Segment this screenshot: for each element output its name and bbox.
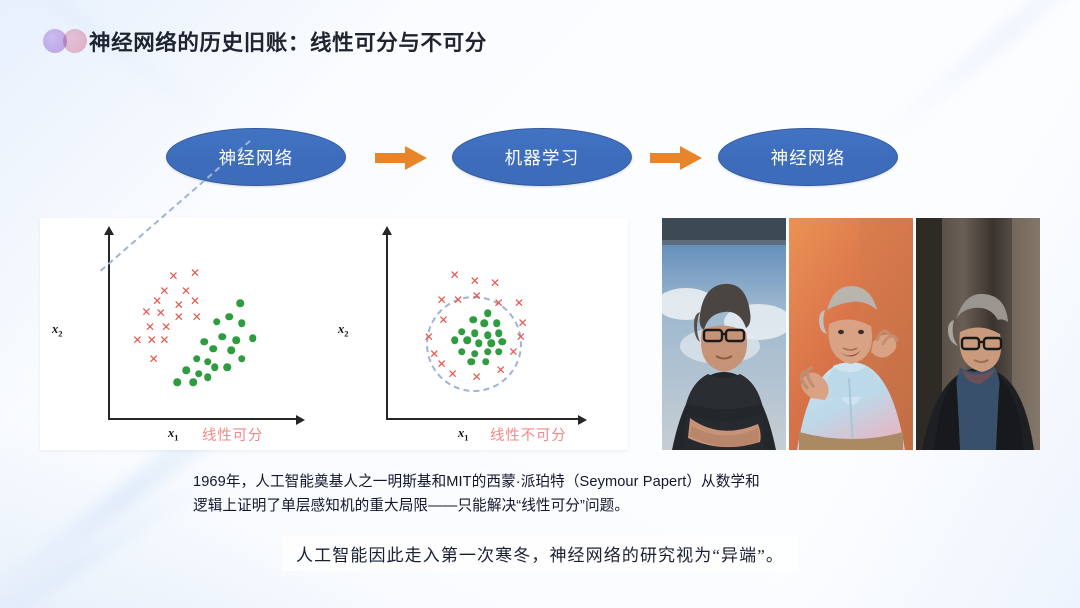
x-axis-label: x1 — [168, 426, 179, 443]
scatter-point-x: ✕ — [472, 371, 482, 383]
x-axis — [108, 418, 298, 420]
researcher-portrait-1 — [662, 218, 786, 450]
scatter-point-o — [236, 299, 244, 307]
scatter-point-x: ✕ — [149, 353, 159, 365]
slide-canvas: 神经网络的历史旧账：线性可分与不可分 神经网络 机器学习 神经网络 — [0, 0, 1080, 608]
caption-line-2: 逻辑上证明了单层感知机的重大局限——只能解决“线性可分”问题。 — [193, 495, 913, 519]
scatter-point-o — [204, 373, 212, 381]
scatter-point-o — [238, 355, 246, 363]
flow-diagram: 神经网络 机器学习 神经网络 — [0, 118, 1080, 198]
researcher-portrait-2 — [789, 218, 913, 450]
scatter-point-o — [484, 331, 492, 339]
x-axis-label: x1 — [458, 426, 469, 443]
scatter-point-o — [458, 348, 466, 356]
scatter-point-x: ✕ — [161, 321, 171, 333]
scatter-point-o — [193, 355, 201, 363]
scatter-point-o — [471, 330, 479, 338]
scatter-point-x: ✕ — [438, 314, 448, 326]
scatter-point-x: ✕ — [437, 294, 447, 306]
page-title: 神经网络的历史旧账：线性可分与不可分 — [89, 26, 487, 57]
flow-node-neural-network-2[interactable]: 神经网络 — [718, 128, 898, 186]
scatter-point-x: ✕ — [159, 334, 169, 346]
scatter-point-x: ✕ — [168, 270, 178, 282]
y-axis-arrowhead-icon — [382, 226, 392, 235]
scatter-point-x: ✕ — [453, 294, 463, 306]
scatter-point-o — [218, 333, 226, 341]
scatter-point-o — [467, 358, 475, 366]
footer-statement-text: 人工智能因此走入第一次寒冬，神经网络的研究视为“异端”。 — [282, 536, 798, 571]
chart-caption-right: 线性不可分 — [490, 424, 567, 445]
scatter-point-o — [469, 316, 477, 324]
scatter-point-o — [225, 313, 233, 321]
scatter-point-o — [213, 318, 221, 326]
caption-block: 1969年，人工智能奠基人之一明斯基和MIT的西蒙·派珀特（Seymour Pa… — [193, 471, 913, 518]
flow-node-label: 神经网络 — [771, 145, 846, 170]
scatter-point-o — [204, 358, 212, 366]
scatter-point-o — [238, 320, 246, 328]
caption-line-1: 1969年，人工智能奠基人之一明斯基和MIT的西蒙·派珀特（Seymour Pa… — [193, 471, 913, 495]
scatter-point-o — [249, 335, 257, 343]
scatter-point-o — [493, 320, 501, 328]
scatter-point-x: ✕ — [174, 311, 184, 323]
scatter-point-x: ✕ — [192, 311, 202, 323]
slide-header: 神经网络的历史旧账：线性可分与不可分 — [0, 0, 1080, 86]
scatter-point-x: ✕ — [470, 275, 480, 287]
footer-statement: 人工智能因此走入第一次寒冬，神经网络的研究视为“异端”。 — [0, 536, 1080, 571]
chart-not-linearly-separable: x2 x1 线性不可分 ✕✕✕✕✕✕✕✕✕✕✕✕✕✕✕✕✕✕ — [330, 218, 628, 450]
scatter-point-x: ✕ — [494, 297, 504, 309]
scatter-point-o — [471, 350, 479, 358]
researcher-portrait-3 — [916, 218, 1040, 450]
scatter-point-o — [499, 338, 507, 346]
scatter-point-o — [495, 348, 503, 356]
y-axis-arrowhead-icon — [104, 226, 114, 235]
y-axis-label: x2 — [52, 322, 63, 339]
scatter-point-x: ✕ — [132, 334, 142, 346]
y-axis — [386, 234, 388, 420]
scatter-point-o — [227, 346, 235, 354]
scatter-point-x: ✕ — [472, 290, 482, 302]
x-axis-arrowhead-icon — [578, 415, 587, 425]
x-axis — [386, 418, 580, 420]
scatter-point-x: ✕ — [450, 269, 460, 281]
scatter-point-x: ✕ — [190, 267, 200, 279]
scatter-point-o — [233, 336, 241, 344]
researcher-photo-strip — [662, 218, 1040, 450]
flow-node-neural-network-1[interactable]: 神经网络 — [166, 128, 346, 186]
y-axis-label: x2 — [338, 322, 349, 339]
scatter-point-o — [464, 336, 472, 344]
scatter-point-x: ✕ — [448, 368, 458, 380]
scatter-point-x: ✕ — [145, 321, 155, 333]
scatter-point-o — [182, 367, 190, 375]
scatter-point-x: ✕ — [156, 307, 166, 319]
scatter-point-x: ✕ — [190, 295, 200, 307]
x-axis-arrowhead-icon — [296, 415, 305, 425]
scatter-point-o — [482, 358, 490, 366]
scatter-point-o — [484, 309, 492, 317]
right-arrow-icon — [375, 146, 427, 170]
scatter-point-o — [173, 378, 181, 386]
scatter-point-x: ✕ — [490, 277, 500, 289]
scatter-point-o — [495, 330, 503, 338]
scatter-point-x: ✕ — [141, 306, 151, 318]
scatter-point-x: ✕ — [496, 364, 506, 376]
logo-circle-right — [63, 29, 87, 53]
scatter-point-x: ✕ — [514, 297, 524, 309]
scatter-point-x: ✕ — [518, 317, 528, 329]
scatter-point-o — [488, 340, 496, 348]
scatter-point-o — [484, 348, 492, 356]
scatter-point-o — [189, 378, 197, 386]
scatter-point-o — [475, 340, 483, 348]
scatter-point-x: ✕ — [147, 334, 157, 346]
flow-node-label: 机器学习 — [505, 145, 580, 170]
scatter-point-o — [224, 363, 232, 371]
scatter-point-o — [451, 336, 459, 344]
two-overlapping-circles-logo-icon — [43, 29, 89, 53]
charts-card: x2 x1 线性可分 ✕✕✕✕✕✕✕✕✕✕✕✕✕✕✕✕✕ x2 x1 线性不可分… — [40, 218, 628, 450]
right-arrow-icon — [650, 146, 702, 170]
scatter-point-x: ✕ — [424, 331, 434, 343]
flow-node-machine-learning[interactable]: 机器学习 — [452, 128, 632, 186]
scatter-point-o — [200, 338, 208, 346]
scatter-point-o — [458, 328, 466, 336]
scatter-point-o — [480, 320, 488, 328]
scatter-point-o — [195, 370, 203, 378]
chart-linearly-separable: x2 x1 线性可分 ✕✕✕✕✕✕✕✕✕✕✕✕✕✕✕✕✕ — [40, 218, 340, 450]
scatter-point-x: ✕ — [437, 358, 447, 370]
chart-caption-left: 线性可分 — [202, 424, 263, 445]
scatter-point-x: ✕ — [516, 331, 526, 343]
scatter-point-o — [211, 363, 219, 371]
scatter-point-x: ✕ — [508, 346, 518, 358]
scatter-point-o — [209, 345, 217, 353]
